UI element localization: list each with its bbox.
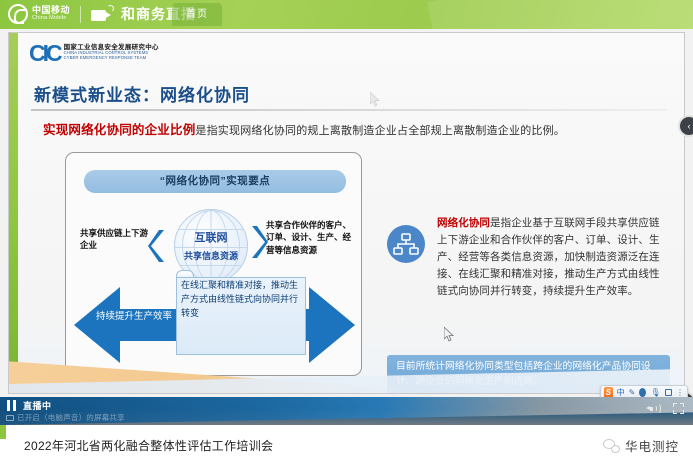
player-subtitle-text: 已开启（电脑声音）的屏幕共享 xyxy=(17,412,125,423)
lead-rest: 是指实现网络化协同的规上离散制造企业占全部规上离散制造企业的比例。 xyxy=(195,125,565,137)
app-header: 中国移动 China Mobile 和商务直播 首页 xyxy=(0,0,693,29)
player-right-group xyxy=(646,403,684,414)
diagram-card: “网络化协同”实现要点 互联网 共享信息资源 共享供应链上下游企业 共享合作伙伴… xyxy=(65,152,362,376)
diagram-left-label: 共享供应链上下游企业 xyxy=(80,227,156,252)
caption-accent xyxy=(0,425,6,439)
arrow-label: 持续提升生产效率 xyxy=(88,308,180,322)
sogou-logo-icon: S xyxy=(604,387,613,397)
menu-icon[interactable]: ⋮ xyxy=(676,389,684,397)
ime-mode-label[interactable]: 中 xyxy=(617,389,625,397)
logo-divider xyxy=(80,6,81,23)
slide-lead-text: 实现网络化协同的企业比例是指实现网络化协同的规上离散制造企业占全部规上离散制造企… xyxy=(43,119,663,138)
slide-canvas: CIC 国家工业信息安全发展研究中心 CHINA INDUSTRIAL CONT… xyxy=(8,32,685,394)
diagram-header: “网络化协同”实现要点 xyxy=(84,170,346,193)
title-divider xyxy=(31,109,667,111)
player-left-group: 直播中 xyxy=(6,399,52,412)
side-panel-toggle[interactable]: ‹ xyxy=(678,115,693,137)
session-title: 2022年河北省两化融合整体性评估工作培训会 xyxy=(24,437,273,454)
watermark-text: 华电测控 xyxy=(625,436,679,455)
keyboard-icon[interactable] xyxy=(665,389,672,396)
globe-icon[interactable] xyxy=(639,388,646,397)
video-stage[interactable]: CIC 国家工业信息安全发展研究中心 CHINA INDUSTRIAL CONT… xyxy=(0,29,693,397)
caption-strip: 2022年河北省两化融合整体性评估工作培训会 华电测控 xyxy=(0,425,693,473)
mic-icon[interactable]: 🎙 xyxy=(650,389,660,397)
definition-paragraph: 网络化协同是指企业基于互联网手段共享供应链上下游企业和合作伙伴的客户、订单、设计… xyxy=(437,215,669,300)
player-bar[interactable]: 直播中 已开启（电脑声音）的屏幕共享 xyxy=(0,397,693,425)
globe-subtitle: 共享信息资源 xyxy=(167,249,255,262)
player-subtitle: 已开启（电脑声音）的屏幕共享 xyxy=(6,412,125,423)
cic-mark-icon: CIC xyxy=(29,42,60,65)
fullscreen-icon[interactable] xyxy=(673,403,684,414)
definition-body: 是指企业基于互联网手段共享供应链上下游企业和合作伙伴的客户、订单、设计、生产、经… xyxy=(437,217,660,297)
pen-icon[interactable]: ✎ xyxy=(629,389,636,397)
wechat-icon xyxy=(603,439,620,453)
pause-icon[interactable] xyxy=(6,400,17,411)
slide-title: 新模式新业态：网络化协同 xyxy=(34,81,250,106)
cic-org-logo: CIC 国家工业信息安全发展研究中心 CHINA INDUSTRIAL CONT… xyxy=(29,42,159,65)
org-name-en-2: CYBER EMERGENCY RESPONSE TEAM xyxy=(64,56,159,61)
brand-name-en: China Mobile xyxy=(32,16,70,22)
globe-title: 互联网 xyxy=(174,229,248,245)
volume-icon[interactable] xyxy=(646,403,659,414)
watermark: 华电测控 xyxy=(603,436,679,455)
nav-home-tab[interactable]: 首页 xyxy=(172,3,222,26)
scroll-text: 在线汇聚和精准对接，推动生产方式由线性链式向协同并行转变 xyxy=(178,279,306,321)
live-status-label: 直播中 xyxy=(23,399,52,412)
diagram-right-label: 共享合作伙伴的客户、订单、设计、生产、经营等信息资源 xyxy=(266,219,354,256)
slide-accent-bar xyxy=(9,33,18,393)
china-mobile-mark-icon xyxy=(8,4,28,24)
screen-share-icon xyxy=(6,415,14,421)
ime-toolbar[interactable]: S 中 ✎ 🎙 ⋮ xyxy=(600,385,688,397)
china-mobile-logo: 中国移动 China Mobile 和商务直播 xyxy=(8,4,196,24)
lead-highlight: 实现网络化协同的企业比例 xyxy=(43,123,195,137)
network-topology-icon xyxy=(387,225,425,263)
video-camera-icon xyxy=(91,8,113,21)
definition-term: 网络化协同 xyxy=(437,217,490,229)
